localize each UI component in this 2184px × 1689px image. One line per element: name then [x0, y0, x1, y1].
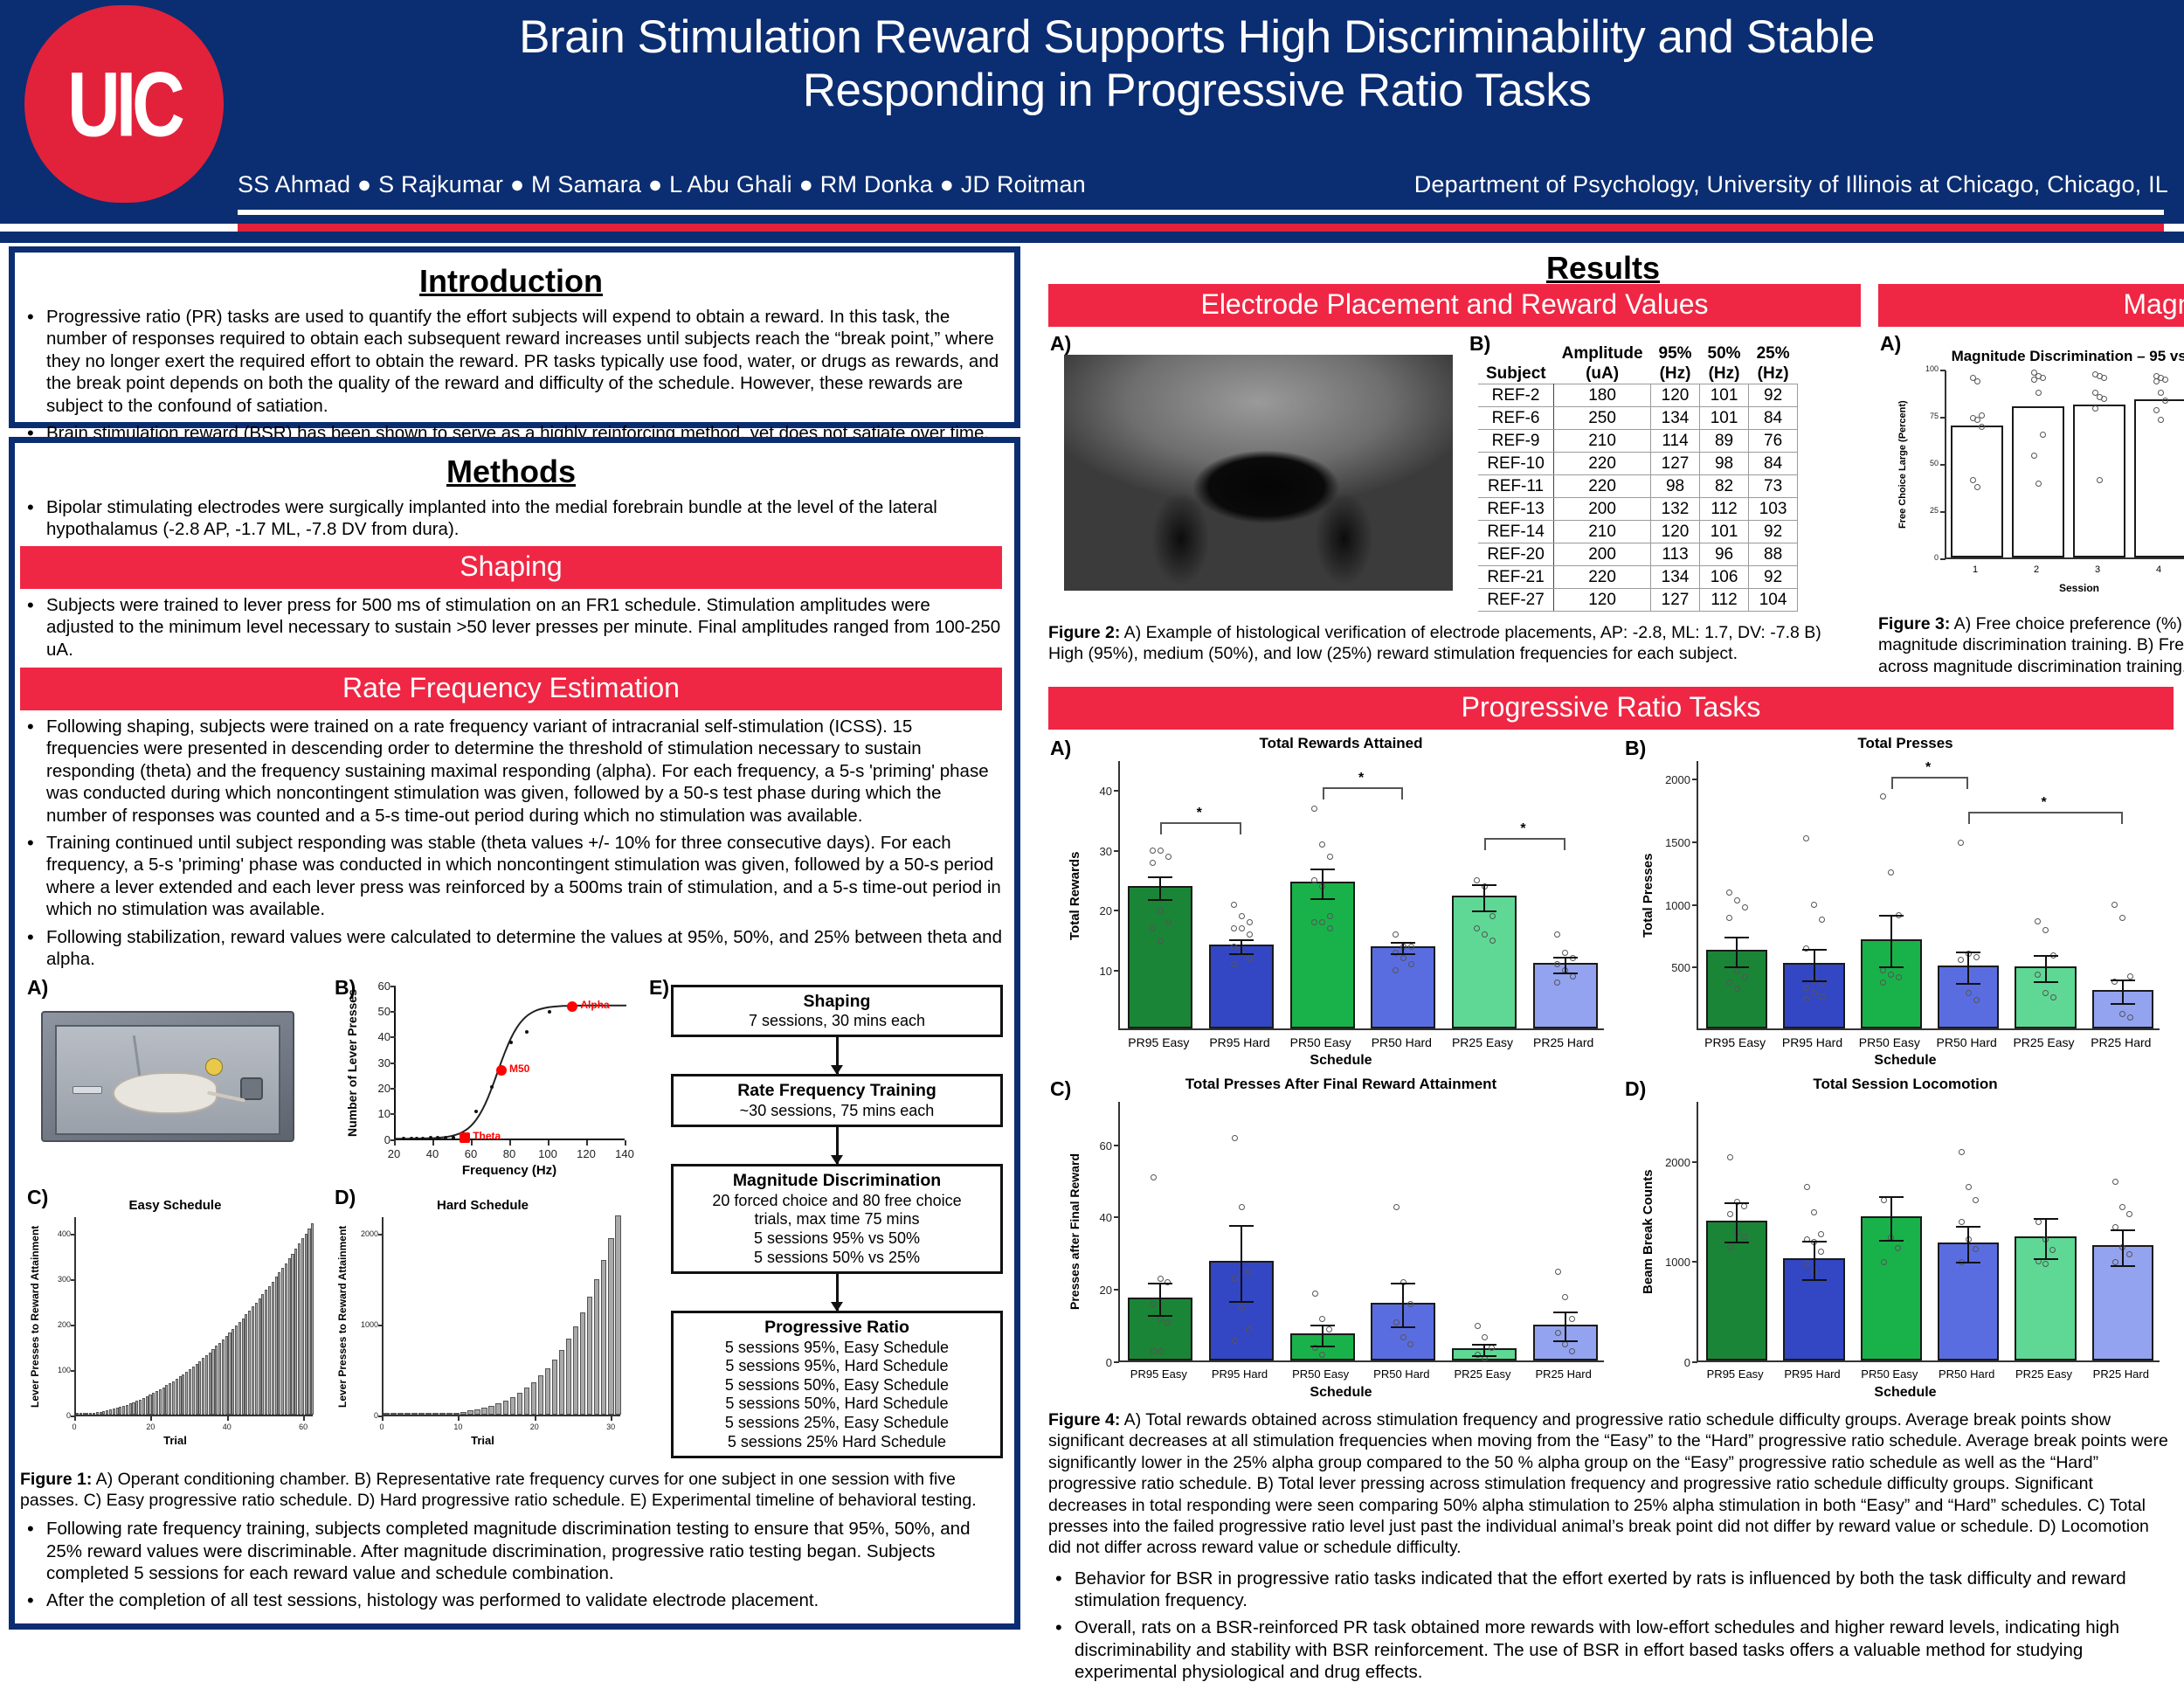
error-cap-top [1802, 949, 1827, 951]
data-point [1819, 993, 1825, 1000]
figure2-caption-label: Figure 2: [1048, 623, 1120, 642]
bar [517, 1393, 523, 1415]
error-cap-top [1802, 1241, 1827, 1243]
data-point [1804, 1184, 1810, 1190]
bar [106, 1410, 108, 1414]
bar [275, 1277, 278, 1414]
error-cap-top [1310, 869, 1335, 870]
significance-bracket [1160, 822, 1241, 834]
bar [495, 1403, 501, 1414]
table-cell: 250 [1554, 407, 1651, 430]
histology-image [1064, 355, 1453, 591]
data-point [1973, 1246, 1979, 1252]
y-tick-mark [1114, 1145, 1119, 1146]
error-cap-bottom [1879, 1240, 1904, 1242]
data-point [1482, 1334, 1488, 1340]
operant-chamber-illustration [32, 995, 312, 1157]
figure1-composite: A) B) Number of Lever PressesThetaM50Alp… [20, 976, 1002, 1465]
y-tick-label: 400 [41, 1229, 71, 1238]
electrode-placement-section: Electrode Placement and Reward Values A)… [1048, 284, 1861, 665]
table-cell: 180 [1554, 384, 1651, 407]
y-tick-label: 1000 [1662, 1256, 1690, 1269]
y-tick-label: 20 [1090, 1284, 1112, 1297]
table-cell: 127 [1651, 453, 1700, 475]
y-tick-label: 40 [366, 1030, 390, 1043]
error-bar [1322, 869, 1324, 898]
th-top-2: 95% [1651, 344, 1700, 364]
bar [96, 1412, 99, 1414]
y-tick-label: 10 [1090, 965, 1112, 978]
y-tick-mark [1114, 970, 1119, 972]
error-bar [1565, 1312, 1566, 1340]
table-cell: 220 [1554, 566, 1651, 589]
y-tick-label: 1000 [1662, 899, 1690, 912]
table-cell: 73 [1749, 475, 1798, 498]
y-tick-mark [1692, 1161, 1697, 1163]
figure3-caption: Figure 3: A) Free choice preference (%) … [1878, 613, 2184, 677]
error-cap-bottom [1310, 1346, 1335, 1347]
x-tick-label: PR95 Easy [1118, 1367, 1199, 1381]
bar [601, 1260, 607, 1415]
bar [404, 1413, 411, 1415]
shaping-bullets: Subjects were trained to lever press for… [20, 594, 1002, 661]
y-tick-mark [1940, 464, 1946, 466]
figure3-caption-label: Figure 3: [1878, 614, 1950, 633]
y-tick-mark [378, 1325, 384, 1326]
x-tick-label: 4 [2128, 564, 2184, 575]
error-cap-top [1148, 1283, 1172, 1284]
error-cap-bottom [1956, 983, 1980, 985]
error-bar [2122, 979, 2124, 1003]
y-tick-mark [1940, 511, 1946, 513]
x-tick-label: PR95 Hard [1773, 1367, 1850, 1381]
bar [615, 1215, 621, 1415]
x-tick-mark [625, 1140, 626, 1146]
x-tick-label: PR50 Easy [1280, 1367, 1361, 1381]
data-point [1974, 378, 1980, 384]
x-tick-label: PR95 Hard [1773, 1035, 1850, 1049]
x-tick-label: PR95 Hard [1199, 1367, 1281, 1381]
y-axis-label: Number of Lever Presses [345, 986, 359, 1140]
data-point [1158, 848, 1164, 854]
electrode-placement-bar: Electrode Placement and Reward Values [1048, 284, 1861, 327]
subject-reward-table: Amplitude 95% 50% 25% Subject (uA) (Hz) … [1478, 344, 1798, 612]
bar [232, 1329, 234, 1414]
figure4-caption-text: A) Total rewards obtained across stimula… [1048, 1410, 2168, 1557]
data-point [1734, 986, 1740, 992]
bar [446, 1413, 453, 1415]
data-point [1158, 938, 1164, 944]
error-bar [1967, 952, 1969, 983]
chart-title: Total Rewards Attained [1066, 735, 1616, 752]
data-point [2158, 390, 2164, 396]
error-cap-bottom [2111, 1265, 2135, 1267]
bar [580, 1312, 586, 1415]
table-cell: 92 [1749, 384, 1798, 407]
bar [467, 1410, 473, 1414]
table-cell: 132 [1651, 498, 1700, 521]
table-cell: 120 [1651, 521, 1700, 543]
data-point [1966, 1184, 1972, 1190]
bar [545, 1368, 551, 1415]
x-tick-label: 20 [382, 1147, 406, 1160]
plot-area: 0255075100 [1945, 370, 2184, 559]
data-point [1958, 957, 1964, 963]
x-tick-label: 80 [497, 1147, 522, 1160]
data-point [2162, 398, 2168, 404]
data-point [1880, 793, 1886, 800]
x-tick-mark [611, 1416, 612, 1421]
y-tick-label: 75 [1922, 412, 1939, 420]
data-point [1231, 902, 1237, 908]
table-cell: 98 [1700, 453, 1749, 475]
table-cell: 82 [1700, 475, 1749, 498]
table-cell: REF-2 [1478, 384, 1554, 407]
error-bar [2122, 1229, 2124, 1265]
x-tick-label: 0 [371, 1422, 392, 1431]
data-point [2042, 927, 2049, 933]
plot-area: 010002000 [382, 1217, 620, 1416]
data-point [1474, 925, 1480, 931]
table-cell: REF-11 [1478, 475, 1554, 498]
th-top-1: Amplitude [1554, 344, 1651, 364]
x-axis-label: Trial [336, 1434, 629, 1447]
bar [189, 1369, 191, 1415]
error-cap-bottom [1229, 1301, 1254, 1303]
x-tick-label: 10 [447, 1422, 468, 1431]
bar [192, 1367, 195, 1415]
timeline-box-progressive-ratio: Progressive Ratio 5 sessions 95%, Easy S… [671, 1311, 1003, 1458]
error-cap-top [1553, 957, 1578, 959]
data-point [1554, 979, 1560, 986]
x-tick-label: PR50 Hard [1361, 1035, 1442, 1049]
bar [116, 1408, 119, 1414]
header-blue-rule [0, 232, 2184, 243]
y-tick-label: 0 [366, 1133, 390, 1146]
data-point [1231, 925, 1237, 931]
error-cap-top [2111, 979, 2135, 981]
magnitude-95v50-chart: Magnitude Discrimination – 95 vs 50Free … [1896, 348, 2184, 599]
data-point [1726, 979, 1732, 986]
data-point [2040, 432, 2046, 438]
chamber-port [240, 1077, 263, 1100]
chart-title: Easy Schedule [29, 1198, 321, 1213]
data-point [1742, 904, 1748, 910]
data-point [1232, 1135, 1238, 1141]
data-point [1393, 1204, 1400, 1210]
x-tick-label: 20 [524, 1422, 545, 1431]
bar [122, 1406, 125, 1415]
table-cell: REF-9 [1478, 430, 1554, 453]
bar [176, 1379, 178, 1415]
error-bar [1736, 1202, 1738, 1243]
y-axis-label: Total Rewards [1068, 761, 1082, 1030]
table-cell: 220 [1554, 453, 1651, 475]
timeline-arrow-1 [836, 1037, 839, 1074]
bar [259, 1298, 261, 1414]
error-cap-top [1879, 1196, 1904, 1198]
y-tick-label: 10 [366, 1107, 390, 1120]
table-row: REF-13200132112103 [1478, 498, 1798, 521]
data-point [509, 1041, 513, 1044]
table-cell: 112 [1700, 589, 1749, 612]
y-tick-mark [1940, 370, 1946, 371]
annotation-label-alpha: Alpha [580, 999, 609, 1011]
data-point [2127, 973, 2133, 979]
bar [1209, 945, 1274, 1028]
error-bar [1483, 884, 1485, 910]
progressive-ratio-bar: Progressive Ratio Tasks [1048, 687, 2174, 730]
bar [225, 1336, 228, 1414]
chart-title: Total Presses [1639, 735, 2172, 752]
data-point [1239, 913, 1245, 919]
table-cell: 220 [1554, 475, 1651, 498]
y-tick-label: 0 [1922, 553, 1939, 562]
conclusion-bullets: Behavior for BSR in progressive ratio ta… [1048, 1568, 2174, 1684]
methods-closing-bullet-1: Following rate frequency training, subje… [20, 1518, 1002, 1584]
table-cell: 84 [1749, 453, 1798, 475]
y-tick-label: 50 [366, 1005, 390, 1018]
data-point [1973, 954, 1980, 960]
table-cell: 104 [1749, 589, 1798, 612]
progressive-ratio-section: Progressive Ratio Tasks A) Total Rewards… [1048, 687, 2174, 1689]
total-presses-chart: Total PressesTotal Presses50010001500200… [1639, 735, 2172, 1076]
table-cell: 103 [1749, 498, 1798, 521]
bar [587, 1297, 593, 1415]
y-tick-label: 40 [1090, 785, 1112, 798]
data-point [1247, 931, 1253, 938]
chart-title: Hard Schedule [336, 1198, 629, 1213]
y-tick-mark [1692, 779, 1697, 780]
th-bot-4: (Hz) [1749, 364, 1798, 384]
error-bar [1241, 939, 1242, 953]
table-row: REF-218012010192 [1478, 384, 1798, 407]
figure1-caption-label: Figure 1: [20, 1470, 92, 1489]
significance-bracket [1484, 838, 1565, 850]
data-point [1970, 477, 1976, 483]
th-bot-3: (Hz) [1700, 364, 1749, 384]
error-bar [1890, 1196, 1892, 1240]
x-tick-mark [535, 1416, 536, 1421]
bar [89, 1413, 92, 1415]
bar [418, 1413, 425, 1415]
data-point [2101, 375, 2107, 381]
figure2-caption: Figure 2: A) Example of histological ver… [1048, 622, 1861, 665]
plot-area: 500100015002000** [1697, 761, 2160, 1030]
y-tick-mark [71, 1370, 76, 1372]
poster-title-line2: Responding in Progressive Ratio Tasks [236, 64, 2158, 117]
x-tick-label: 40 [217, 1422, 238, 1431]
subject-table-head: Amplitude 95% 50% 25% Subject (uA) (Hz) … [1478, 344, 1798, 384]
y-tick-label: 2000 [349, 1229, 378, 1238]
bar [83, 1413, 86, 1415]
error-cap-bottom [1229, 953, 1254, 955]
y-tick-label: 2000 [1662, 1156, 1690, 1169]
error-cap-top [1724, 1202, 1749, 1204]
y-tick-mark [71, 1325, 76, 1326]
y-axis-label: Lever Presses to Reward Attainment [29, 1217, 41, 1416]
error-cap-top [1472, 1344, 1496, 1346]
error-cap-top [1553, 1312, 1578, 1313]
x-tick-label: 3 [2067, 564, 2128, 575]
data-point [1393, 967, 1399, 973]
y-tick-label: 2000 [1662, 773, 1690, 786]
data-point [2040, 375, 2046, 381]
y-axis-label: Free Choice Large (Percent) [1897, 370, 1908, 559]
error-bar [1322, 1325, 1324, 1346]
bar [129, 1403, 132, 1414]
data-point [1562, 950, 1568, 956]
bar [552, 1360, 558, 1415]
y-axis-label: Beam Break Counts [1641, 1102, 1655, 1362]
bar [172, 1381, 175, 1415]
error-cap-top [1956, 952, 1980, 953]
chamber-lever [73, 1086, 102, 1094]
error-cap-bottom [1310, 898, 1335, 900]
table-row: REF-202001139688 [1478, 543, 1798, 566]
error-bar [1890, 915, 1892, 966]
data-point [1165, 854, 1171, 860]
y-tick-label: 20 [1090, 904, 1112, 917]
bar [109, 1409, 112, 1414]
error-cap-bottom [1879, 966, 1904, 968]
x-tick-label: PR25 Easy [2005, 1367, 2082, 1381]
bar [135, 1401, 138, 1414]
error-cap-bottom [1724, 1242, 1749, 1243]
x-axis-label: Frequency (Hz) [394, 1163, 625, 1178]
methods-closing-bullets: Following rate frequency training, subje… [20, 1518, 1002, 1612]
error-cap-top [2034, 955, 2058, 957]
data-point [525, 1030, 529, 1034]
bar [288, 1258, 291, 1414]
x-tick-label: PR50 Easy [1851, 1367, 1928, 1381]
bar [79, 1413, 82, 1415]
table-cell: 120 [1651, 384, 1700, 407]
bar [149, 1395, 151, 1414]
bar [1951, 426, 2003, 557]
plot-area: 0204060 [1118, 1102, 1604, 1362]
y-tick-mark [1114, 1216, 1119, 1218]
chart-title: Total Session Locomotion [1639, 1076, 2172, 1093]
table-cell: REF-6 [1478, 407, 1554, 430]
table-cell: 98 [1651, 475, 1700, 498]
bar [218, 1343, 221, 1415]
data-point [2112, 1179, 2118, 1185]
data-point [1319, 1316, 1325, 1322]
timeline-pr-line2: 5 sessions 95%, Hard Schedule [725, 1357, 948, 1374]
data-point [1474, 877, 1480, 883]
bar [488, 1406, 494, 1415]
timeline-box-shaping: Shaping 7 sessions, 30 mins each [671, 985, 1003, 1038]
figure4-caption: Figure 4: A) Total rewards obtained acro… [1048, 1409, 2174, 1559]
table-row: REF-1421012010192 [1478, 521, 1798, 543]
data-point [1393, 1319, 1400, 1326]
data-point [2042, 990, 2049, 996]
data-point [2126, 1251, 2132, 1257]
bar [538, 1375, 544, 1414]
y-tick-label: 60 [366, 979, 390, 993]
data-point [1569, 1316, 1575, 1322]
y-tick-mark [390, 1063, 396, 1064]
x-tick-label: PR25 Hard [1523, 1367, 1604, 1381]
significance-star: * [1925, 760, 1931, 776]
data-point [2031, 453, 2037, 459]
subject-table-header-top: Amplitude 95% 50% 25% [1478, 344, 1798, 364]
figure1-caption: Figure 1: A) Operant conditioning chambe… [20, 1469, 1002, 1512]
data-point [1818, 1231, 1824, 1237]
y-tick-label: 100 [1922, 364, 1939, 373]
x-tick-label: 120 [574, 1147, 598, 1160]
data-point [1151, 1348, 1157, 1354]
data-point [1158, 1276, 1164, 1282]
rate-bullet-1: Following shaping, subjects were trained… [20, 716, 1002, 827]
timeline-arrow-2 [836, 1127, 839, 1164]
data-point [2111, 902, 2118, 908]
bar [298, 1243, 301, 1414]
bar [248, 1311, 251, 1415]
bar [245, 1314, 247, 1414]
timeline-shaping-title: Shaping [804, 992, 871, 1011]
bar [228, 1333, 231, 1414]
methods-bullet-1: Bipolar stimulating electrodes were surg… [20, 496, 1002, 541]
error-cap-bottom [1472, 1355, 1496, 1357]
rate-frequency-chart: Number of Lever PressesThetaM50Alpha0102… [345, 979, 633, 1180]
data-point [1741, 1203, 1747, 1209]
x-tick-mark [458, 1416, 460, 1421]
x-tick-mark [227, 1416, 229, 1421]
rate-frequency-bar: Rate Frequency Estimation [20, 668, 1002, 710]
error-cap-top [1956, 1226, 1980, 1228]
data-point [1489, 938, 1496, 944]
y-tick-mark [71, 1279, 76, 1281]
data-point [1562, 1294, 1568, 1300]
bar [119, 1407, 121, 1414]
locomotion-chart: Total Session LocomotionBeam Break Count… [1639, 1076, 2172, 1408]
error-cap-bottom [1148, 899, 1172, 901]
methods-bullets: Bipolar stimulating electrodes were surg… [20, 496, 1002, 541]
bar [291, 1254, 294, 1415]
table-cell: 76 [1749, 430, 1798, 453]
significance-star: * [1358, 771, 1364, 786]
bar [524, 1388, 530, 1414]
bar [235, 1326, 238, 1414]
y-tick-label: 300 [41, 1275, 71, 1284]
x-tick-mark [303, 1416, 305, 1421]
title-block: Brain Stimulation Reward Supports High D… [236, 10, 2158, 118]
rat-illustration [113, 1072, 218, 1114]
data-point [2035, 481, 2042, 487]
data-point [1158, 908, 1164, 914]
error-bar [2045, 1218, 2047, 1258]
y-tick-label: 1000 [349, 1320, 378, 1329]
data-point [1811, 1209, 1817, 1215]
data-point [1811, 990, 1817, 996]
x-tick-label: PR50 Easy [1851, 1035, 1928, 1049]
data-point [1158, 1348, 1164, 1354]
timeline-shaping-line1: 7 sessions, 30 mins each [749, 1012, 925, 1029]
x-tick-mark [394, 1140, 396, 1146]
error-cap-top [1472, 884, 1496, 886]
data-point [1727, 1211, 1733, 1217]
bar [242, 1319, 245, 1415]
table-row: REF-27120127112104 [1478, 589, 1798, 612]
data-point [2162, 377, 2168, 383]
bar [185, 1372, 188, 1415]
presses-after-reward-chart: Total Presses After Final Reward Attainm… [1066, 1076, 1616, 1408]
total-rewards-chart: Total Rewards AttainedTotal Rewards10203… [1066, 735, 1616, 1076]
x-tick-label: PR25 Hard [1523, 1035, 1604, 1049]
data-point [1246, 1326, 1252, 1333]
